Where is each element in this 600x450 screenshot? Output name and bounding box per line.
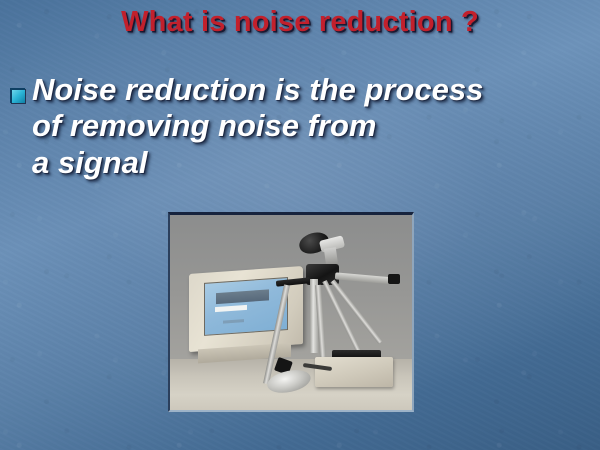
slide-title: What is noise reduction ? [0, 6, 600, 39]
screen-titlebar [217, 289, 270, 303]
beige-base-unit [315, 357, 392, 386]
display-unit [189, 266, 303, 352]
body-line-1: Noise reduction is the process [32, 72, 596, 108]
presentation-slide: What is noise reduction ? Noise reductio… [0, 0, 600, 450]
screen-white-strip [215, 304, 248, 311]
slide-body: Noise reduction is the process of removi… [10, 72, 596, 181]
body-line-3: a signal [32, 145, 596, 181]
screen-faint-row [223, 319, 244, 324]
bullet-list-item: Noise reduction is the process of removi… [10, 72, 596, 181]
photo-content [170, 215, 412, 410]
body-line-2: of removing noise from [32, 108, 596, 144]
slide-photo [168, 212, 414, 412]
bullet-text-block: Noise reduction is the process of removi… [32, 72, 596, 181]
square-bullet-icon [10, 88, 25, 103]
tripod-pan-handle-tip [388, 274, 400, 284]
